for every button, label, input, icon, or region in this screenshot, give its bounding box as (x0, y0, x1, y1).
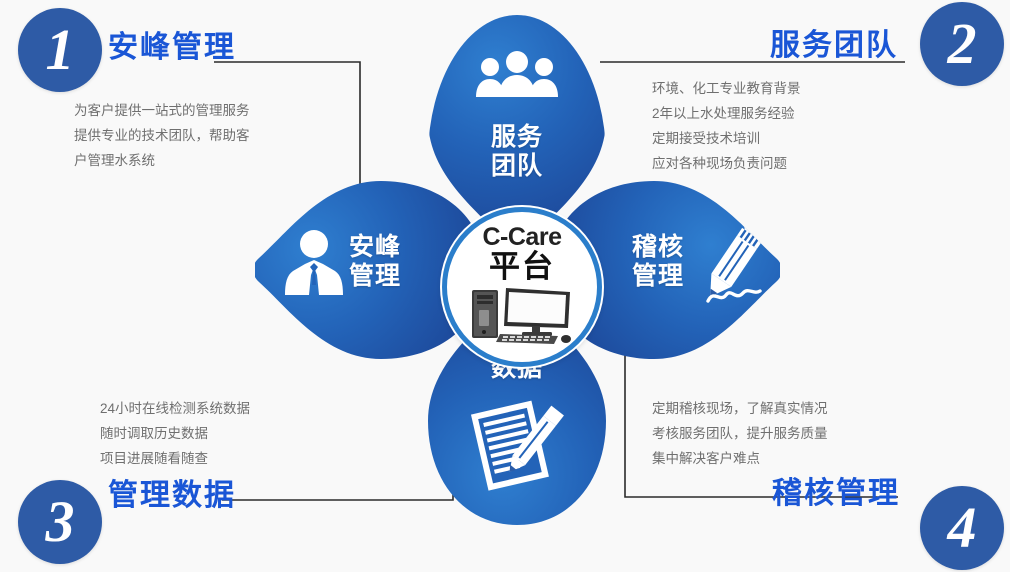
hub-cn-title: 平台 (489, 250, 555, 283)
petal-service-team-label: 服务 团队 (428, 123, 606, 181)
section-number-4: 4 (920, 486, 1004, 570)
desktop-computer-icon (466, 284, 578, 351)
section-number-1-label: 1 (46, 21, 75, 79)
section-body-3: 24小时在线检测系统数据 随时调取历史数据 项目进展随看随查 (100, 396, 250, 471)
section-title-2: 服务团队 (770, 20, 898, 64)
section-title-4: 稽核管理 (772, 468, 900, 512)
clipboard-pen-icon (469, 399, 565, 496)
section-title-3: 管理数据 (108, 470, 236, 514)
section-number-2-label: 2 (948, 15, 977, 73)
petal-anfeng-management-label: 安峰 管理 (329, 233, 421, 291)
section-number-4-label: 4 (948, 499, 977, 557)
infographic-canvas: 1 2 3 4 安峰管理 服务团队 管理数据 稽核管理 为客户提供一站式的管理服… (0, 0, 1010, 572)
section-1-line-3: 户管理水系统 (74, 148, 250, 173)
section-number-3-label: 3 (46, 493, 75, 551)
section-body-1: 为客户提供一站式的管理服务 提供专业的技术团队，帮助客 户管理水系统 (74, 98, 250, 173)
pencil-signature-icon (700, 215, 774, 320)
section-3-line-2: 随时调取历史数据 (100, 421, 250, 446)
section-number-2: 2 (920, 2, 1004, 86)
hub-en-title: C-Care (483, 224, 562, 250)
petal-cluster: 服务 团队 安峰 管理 (255, 15, 780, 525)
people-group-icon (474, 51, 560, 102)
section-1-line-2: 提供专业的技术团队，帮助客 (74, 123, 250, 148)
section-3-line-3: 项目进展随看随查 (100, 446, 250, 471)
section-1-line-1: 为客户提供一站式的管理服务 (74, 98, 250, 123)
section-number-1: 1 (18, 8, 102, 92)
section-title-1: 安峰管理 (108, 22, 236, 66)
center-hub[interactable]: C-Care 平台 (442, 207, 602, 367)
petal-audit-management-label: 稽核 管理 (612, 233, 704, 291)
section-3-line-1: 24小时在线检测系统数据 (100, 396, 250, 421)
section-number-3: 3 (18, 480, 102, 564)
